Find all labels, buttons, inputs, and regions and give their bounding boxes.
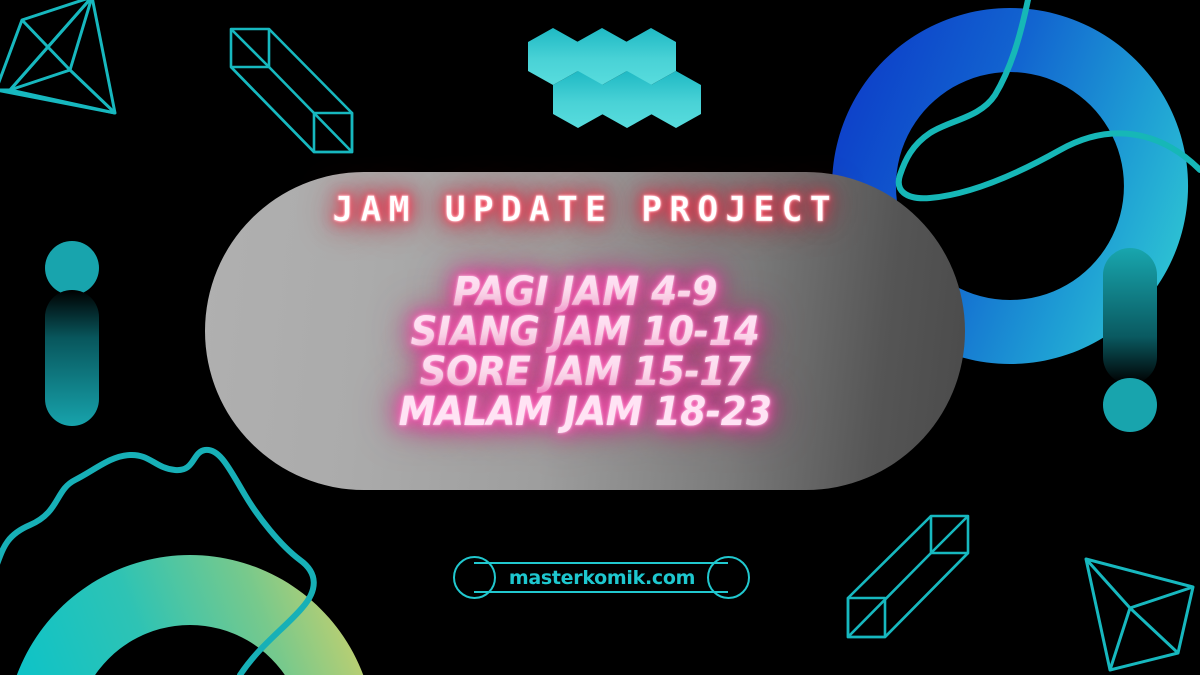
- hexagon-cluster-top: [528, 28, 701, 128]
- schedule-item-pagi: PAGI JAM 4-9: [232, 272, 939, 312]
- website-badge[interactable]: masterkomik.com: [452, 553, 752, 603]
- website-url: masterkomik.com: [452, 553, 752, 603]
- schedule-item-siang: SIANG JAM 10-14: [232, 312, 939, 352]
- wireframe-beam-bottom-right: [848, 516, 968, 637]
- schedule-item-sore: SORE JAM 15-17: [232, 352, 939, 392]
- bar-dot-right: [1103, 248, 1157, 432]
- schedule-item-malam: MALAM JAM 18-23: [232, 392, 939, 432]
- wireframe-tetrahedron-bottom-right: [1086, 559, 1193, 670]
- poster-canvas: JAM UPDATE PROJECT PAGI JAM 4-9 SIANG JA…: [0, 0, 1200, 675]
- wavy-line-top-right: [899, 0, 1200, 198]
- gradient-ring-bottom-left: [5, 555, 375, 675]
- wavy-line-bottom-left: [0, 450, 314, 675]
- page-title: JAM UPDATE PROJECT: [205, 190, 965, 230]
- schedule-list: PAGI JAM 4-9 SIANG JAM 10-14 SORE JAM 15…: [205, 272, 965, 432]
- wireframe-tetrahedron-top-left: [0, 0, 115, 113]
- dot-bar-left: [45, 241, 99, 426]
- wireframe-beam-top-left: [231, 29, 352, 152]
